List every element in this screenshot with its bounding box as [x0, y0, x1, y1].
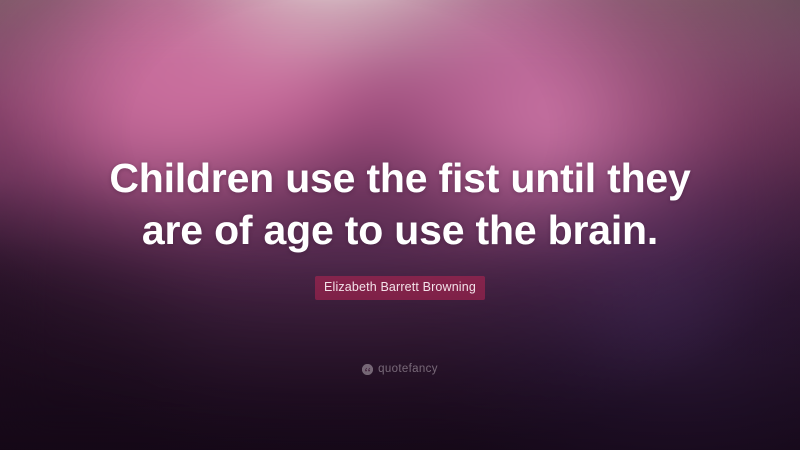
quote-text: Children use the fist until they are of …: [60, 152, 740, 256]
watermark-label: quotefancy: [378, 364, 438, 376]
quote-badge-icon: [362, 364, 373, 375]
watermark: quotefancy: [0, 364, 800, 376]
quote-block: Children use the fist until they are of …: [0, 152, 800, 256]
poster-content: Children use the fist until they are of …: [0, 0, 800, 450]
author-badge: Elizabeth Barrett Browning: [315, 276, 485, 300]
quote-poster: Children use the fist until they are of …: [0, 0, 800, 450]
author-row: Elizabeth Barrett Browning: [0, 276, 800, 300]
